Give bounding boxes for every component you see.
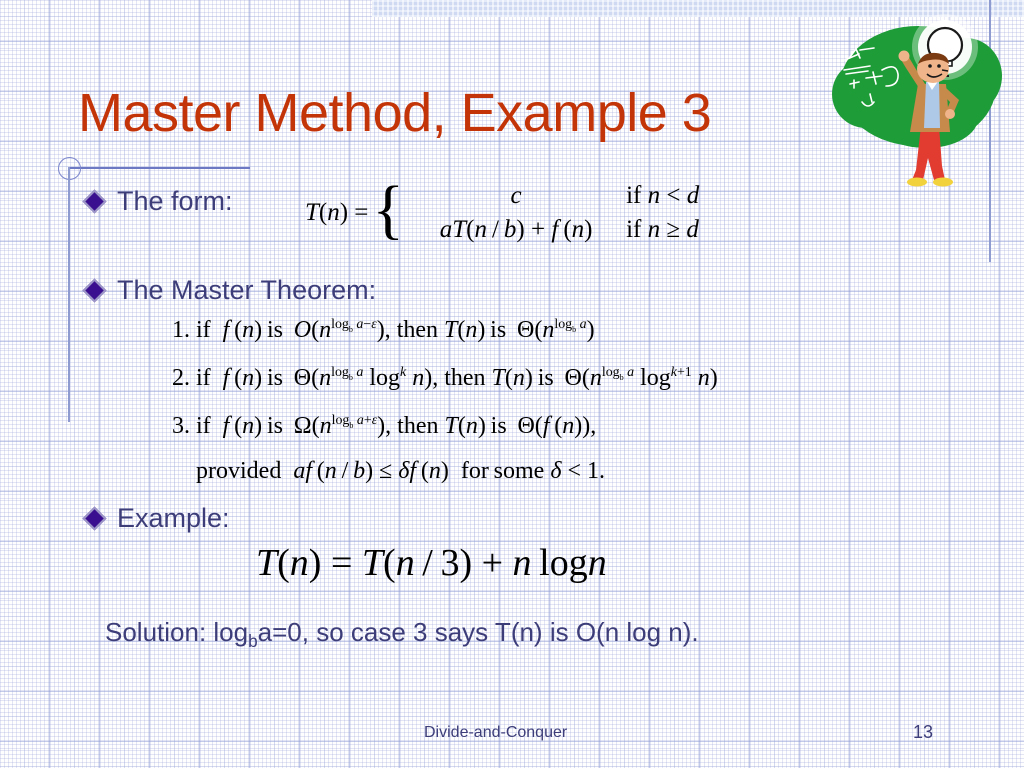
form-case-1-cond: if n < d	[626, 182, 699, 210]
solution-text: Solution: logba=0, so case 3 says T(n) i…	[105, 617, 699, 652]
theorem-provided-condition: provided af (n / b) ≤ δf (n) for some δ …	[196, 458, 605, 485]
form-case-2: aT(n / b) + f (n) if n ≥ d	[406, 216, 699, 244]
title-underline	[70, 167, 250, 169]
theorem-case-3: 3. if f (n) is Ω(nlogb a+ε), then T(n) i…	[172, 413, 596, 440]
form-equation: T(n) = { c if n < d aT(n / b) + f (n) if…	[305, 182, 699, 244]
form-case-2-cond: if n ≥ d	[626, 216, 699, 244]
form-case-2-expr: aT(n / b) + f (n)	[406, 216, 626, 244]
solution-subscript: b	[248, 631, 258, 651]
footer-title: Divide-and-Conquer	[424, 724, 567, 742]
bullet-example: Example:	[86, 503, 230, 534]
form-equation-cases: c if n < d aT(n / b) + f (n) if n ≥ d	[406, 182, 699, 244]
footer-page-number: 13	[913, 722, 933, 743]
equation-brace: {	[372, 184, 404, 235]
form-case-1: c if n < d	[406, 182, 699, 210]
bullet-the-form: The form:	[86, 186, 233, 217]
left-vertical-rule	[68, 167, 70, 422]
solution-prefix: Solution: log	[105, 617, 248, 647]
idea-man-lightbulb-icon	[826, 14, 1016, 194]
bullet-label-master-theorem: The Master Theorem:	[117, 275, 376, 306]
diamond-bullet-icon	[82, 189, 106, 213]
page-title: Master Method, Example 3	[78, 85, 711, 142]
slide-canvas: Master Method, Example 3 The form: T(n) …	[0, 0, 1024, 768]
example-equation: T(n) = T(n / 3) + n logn	[256, 541, 607, 585]
bullet-the-master-theorem: The Master Theorem:	[86, 275, 376, 306]
form-case-1-expr: c	[406, 182, 626, 210]
theorem-case-2: 2. if f (n) is Θ(nlogb a logk n), then T…	[172, 365, 718, 392]
bullet-label-example: Example:	[117, 503, 230, 534]
diamond-bullet-icon	[82, 278, 106, 302]
diamond-bullet-icon	[82, 506, 106, 530]
solution-rest: a=0, so case 3 says T(n) is O(n log n).	[258, 617, 699, 647]
theorem-case-1: 1. if f (n) is O(nlogb a−ε), then T(n) i…	[172, 317, 595, 344]
bullet-label-the-form: The form:	[117, 186, 233, 217]
form-equation-lhs: T(n) =	[305, 199, 372, 227]
